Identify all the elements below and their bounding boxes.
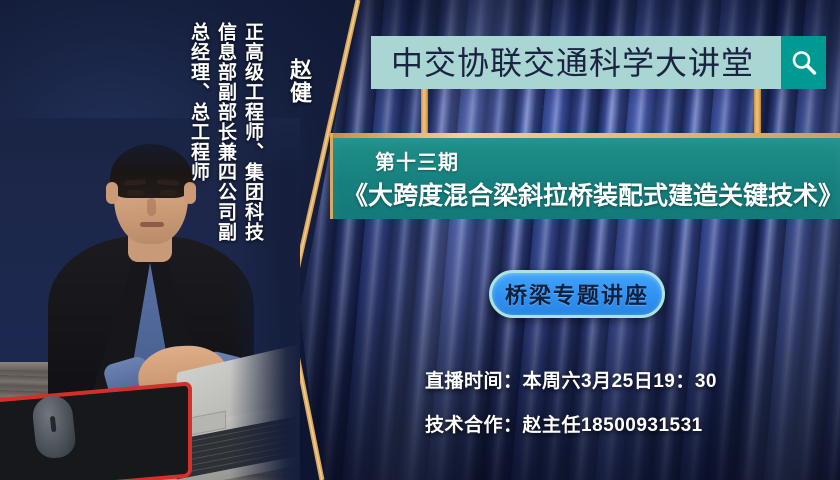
gold-connector-right	[754, 89, 761, 135]
subtitle-band: 第十三期 《大跨度混合梁斜拉桥装配式建造关键技术》	[330, 133, 840, 219]
lecture-topic: 《大跨度混合梁斜拉桥装配式建造关键技术》	[343, 176, 839, 212]
gold-connector-left	[421, 89, 428, 135]
bridge-seminar-button[interactable]: 桥梁专题讲座	[489, 270, 665, 318]
mouse-pad	[0, 381, 192, 480]
nose	[147, 198, 156, 216]
issue-number: 第十三期	[375, 146, 459, 175]
ear-right	[184, 182, 196, 204]
speaker-credential-line-2: 信息部副部长兼四公司副	[216, 22, 235, 242]
livestream-promo-poster: 赵健 正高级工程师、集团科技 信息部副部长兼四公司副 总经理、总工程师 中交协联…	[0, 0, 840, 480]
speaker-credential-line-3: 总经理、总工程师	[189, 22, 208, 182]
bridge-seminar-button-label: 桥梁专题讲座	[505, 278, 649, 310]
search-button[interactable]	[781, 36, 826, 89]
eye-right	[160, 190, 177, 196]
title-banner: 中交协联交通科学大讲堂	[371, 36, 781, 89]
mouth	[140, 222, 164, 227]
speaker-name: 赵健	[288, 58, 310, 104]
tech-contact-text: 技术合作：赵主任18500931531	[425, 410, 703, 437]
page-title: 中交协联交通科学大讲堂	[371, 47, 754, 79]
ear-left	[106, 182, 118, 204]
live-time-text: 直播时间：本周六3月25日19：30	[425, 366, 717, 393]
speaker-credential-line-1: 正高级工程师、集团科技	[243, 22, 262, 242]
search-icon	[789, 48, 819, 78]
eye-left	[127, 190, 144, 196]
